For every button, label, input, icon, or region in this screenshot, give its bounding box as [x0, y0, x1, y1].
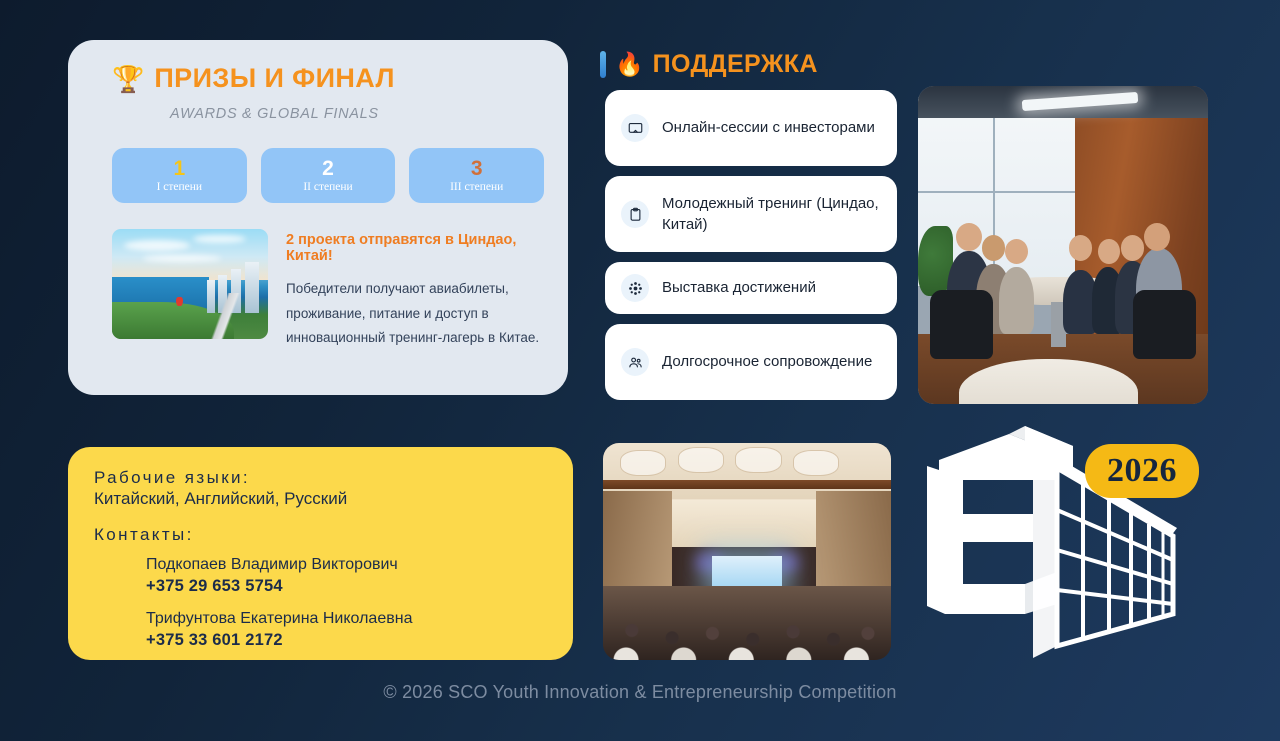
- medal-badge-1: 1 I степени: [112, 148, 247, 203]
- qingdao-block: 2 проекта отправятся в Циндао, Китай! По…: [112, 229, 544, 351]
- support-title: ПОДДЕРЖКА: [653, 50, 818, 79]
- prizes-title: ПРИЗЫ И ФИНАЛ: [154, 63, 395, 94]
- support-item-exhibition[interactable]: Выставка достижений: [605, 262, 897, 314]
- sco-s-building-logo: 2026: [905, 418, 1205, 663]
- medal-label: III степени: [450, 181, 503, 193]
- support-item-long-term[interactable]: Долгосрочное сопровождение: [605, 324, 897, 400]
- prizes-subtitle: AWARDS & GLOBAL FINALS: [170, 106, 544, 122]
- business-meeting-photo: [918, 86, 1208, 404]
- prizes-header: 🏆 ПРИЗЫ И ФИНАЛ: [112, 63, 544, 94]
- support-item-youth-training[interactable]: Молодежный тренинг (Циндао, Китай): [605, 176, 897, 252]
- people-icon: [621, 348, 649, 376]
- accent-bar-icon: [600, 51, 606, 78]
- contact-person-2: Трифунтова Екатерина Николаевна +375 33 …: [146, 607, 547, 650]
- monitor-icon: [621, 114, 649, 142]
- year-badge: 2026: [1085, 444, 1199, 498]
- contact-name: Трифунтова Екатерина Николаевна: [146, 607, 547, 631]
- medal-label: II степени: [303, 181, 352, 193]
- qingdao-text: 2 проекта отправятся в Циндао, Китай! По…: [286, 229, 544, 351]
- support-item-label: Молодежный тренинг (Циндао, Китай): [662, 193, 881, 236]
- qingdao-headline: 2 проекта отправятся в Циндао, Китай!: [286, 232, 544, 264]
- support-item-online-sessions[interactable]: Онлайн-сессии с инвесторами: [605, 90, 897, 166]
- medal-number: 1: [173, 158, 185, 180]
- medal-badge-2: 2 II степени: [261, 148, 396, 203]
- contacts-label: Контакты:: [94, 525, 547, 545]
- trophy-icon: 🏆: [112, 66, 144, 92]
- network-icon: [621, 274, 649, 302]
- qingdao-coastline-photo: [112, 229, 268, 339]
- fire-icon: 🔥: [615, 53, 644, 76]
- contact-phone[interactable]: +375 29 653 5754: [146, 577, 547, 596]
- support-item-label: Выставка достижений: [662, 277, 816, 298]
- support-item-label: Долгосрочное сопровождение: [662, 351, 872, 372]
- contact-person-1: Подкопаев Владимир Викторович +375 29 65…: [146, 553, 547, 596]
- footer-copyright: © 2026 SCO Youth Innovation & Entreprene…: [0, 682, 1280, 703]
- prizes-card: 🏆 ПРИЗЫ И ФИНАЛ AWARDS & GLOBAL FINALS 1…: [68, 40, 568, 395]
- support-item-label: Онлайн-сессии с инвесторами: [662, 117, 875, 138]
- support-list: Онлайн-сессии с инвесторами Молодежный т…: [605, 90, 897, 410]
- contact-phone[interactable]: +375 33 601 2172: [146, 631, 547, 650]
- medal-number: 3: [471, 158, 483, 180]
- conference-hall-photo: [603, 443, 891, 660]
- languages-label: Рабочие языки:: [94, 467, 547, 488]
- support-header: 🔥 ПОДДЕРЖКА: [600, 50, 818, 79]
- qingdao-body: Победители получают авиабилеты, проживан…: [286, 277, 544, 351]
- medal-list: 1 I степени 2 II степени 3 III степени: [112, 148, 544, 203]
- languages-value: Китайский, Английский, Русский: [94, 488, 547, 511]
- clipboard-icon: [621, 200, 649, 228]
- medal-number: 2: [322, 158, 334, 180]
- contact-name: Подкопаев Владимир Викторович: [146, 553, 547, 577]
- medal-label: I степени: [157, 181, 203, 193]
- contacts-card: Рабочие языки: Китайский, Английский, Ру…: [68, 447, 573, 660]
- medal-badge-3: 3 III степени: [409, 148, 544, 203]
